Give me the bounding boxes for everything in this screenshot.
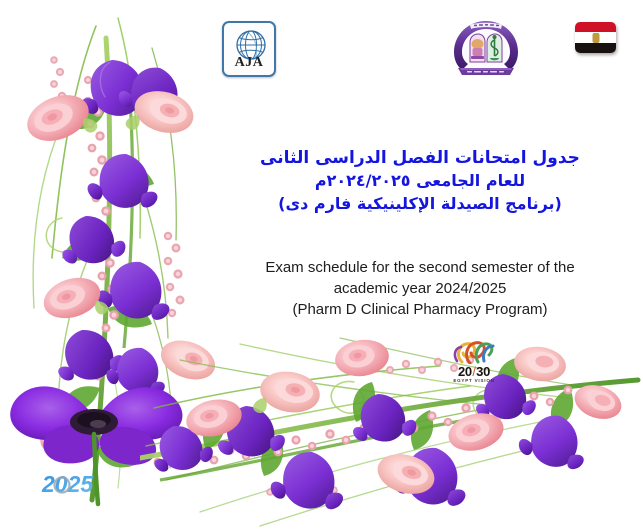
flag-stripe-black (575, 43, 616, 53)
vision-right-number: 30 (476, 364, 490, 379)
flag-stripe-red (575, 22, 616, 32)
floral-bottom-border (140, 330, 643, 529)
aja-logo-text: AJA (224, 56, 274, 70)
english-title-line-1: Exam schedule for the second semester of… (205, 257, 635, 278)
floral-left-border (0, 8, 230, 508)
english-title: Exam schedule for the second semester of… (205, 257, 635, 320)
arabic-title-line-1: جدول امتحانات الفصل الدراسى الثانى (250, 146, 590, 170)
pink-rose (20, 83, 220, 459)
eagle-of-saladin-icon (592, 33, 599, 43)
exam-schedule-poster: AJA (0, 0, 643, 529)
faculty-of-pharmacy-emblem (448, 18, 524, 76)
vision-swirl-icon (448, 340, 500, 364)
arabic-title-line-3: (برنامج الصيدلة الإكلينيكية فارم دى) (250, 193, 590, 216)
purple-bell-flower (146, 371, 593, 513)
arabic-title-line-2: للعام الجامعى ٢٠٢٤/٢٠٢٥م (250, 170, 590, 193)
vision-left-number: 20 (458, 364, 472, 379)
vision-2030-number: 20/30 (448, 365, 500, 378)
pink-blossom-spike (50, 56, 184, 380)
purple-bell-flower (50, 55, 193, 399)
english-title-line-3: (Pharm D Clinical Pharmacy Program) (205, 299, 635, 320)
year-2025-text: 2025 (41, 471, 94, 497)
year-2025-badge: 2025 (40, 468, 102, 502)
aja-accreditation-logo: AJA (222, 21, 276, 77)
pink-blossom-spike (154, 356, 588, 496)
egypt-flag (575, 22, 616, 53)
egypt-vision-2030-logo: 20/30 EGYPT VISION (448, 340, 500, 386)
arabic-title: جدول امتحانات الفصل الدراسى الثانى للعام… (250, 146, 590, 216)
english-title-line-2: academic year 2024/2025 (205, 278, 635, 299)
vision-subtitle: EGYPT VISION (448, 378, 500, 384)
pink-rose (183, 336, 626, 500)
aja-logo-frame: AJA (222, 21, 276, 77)
